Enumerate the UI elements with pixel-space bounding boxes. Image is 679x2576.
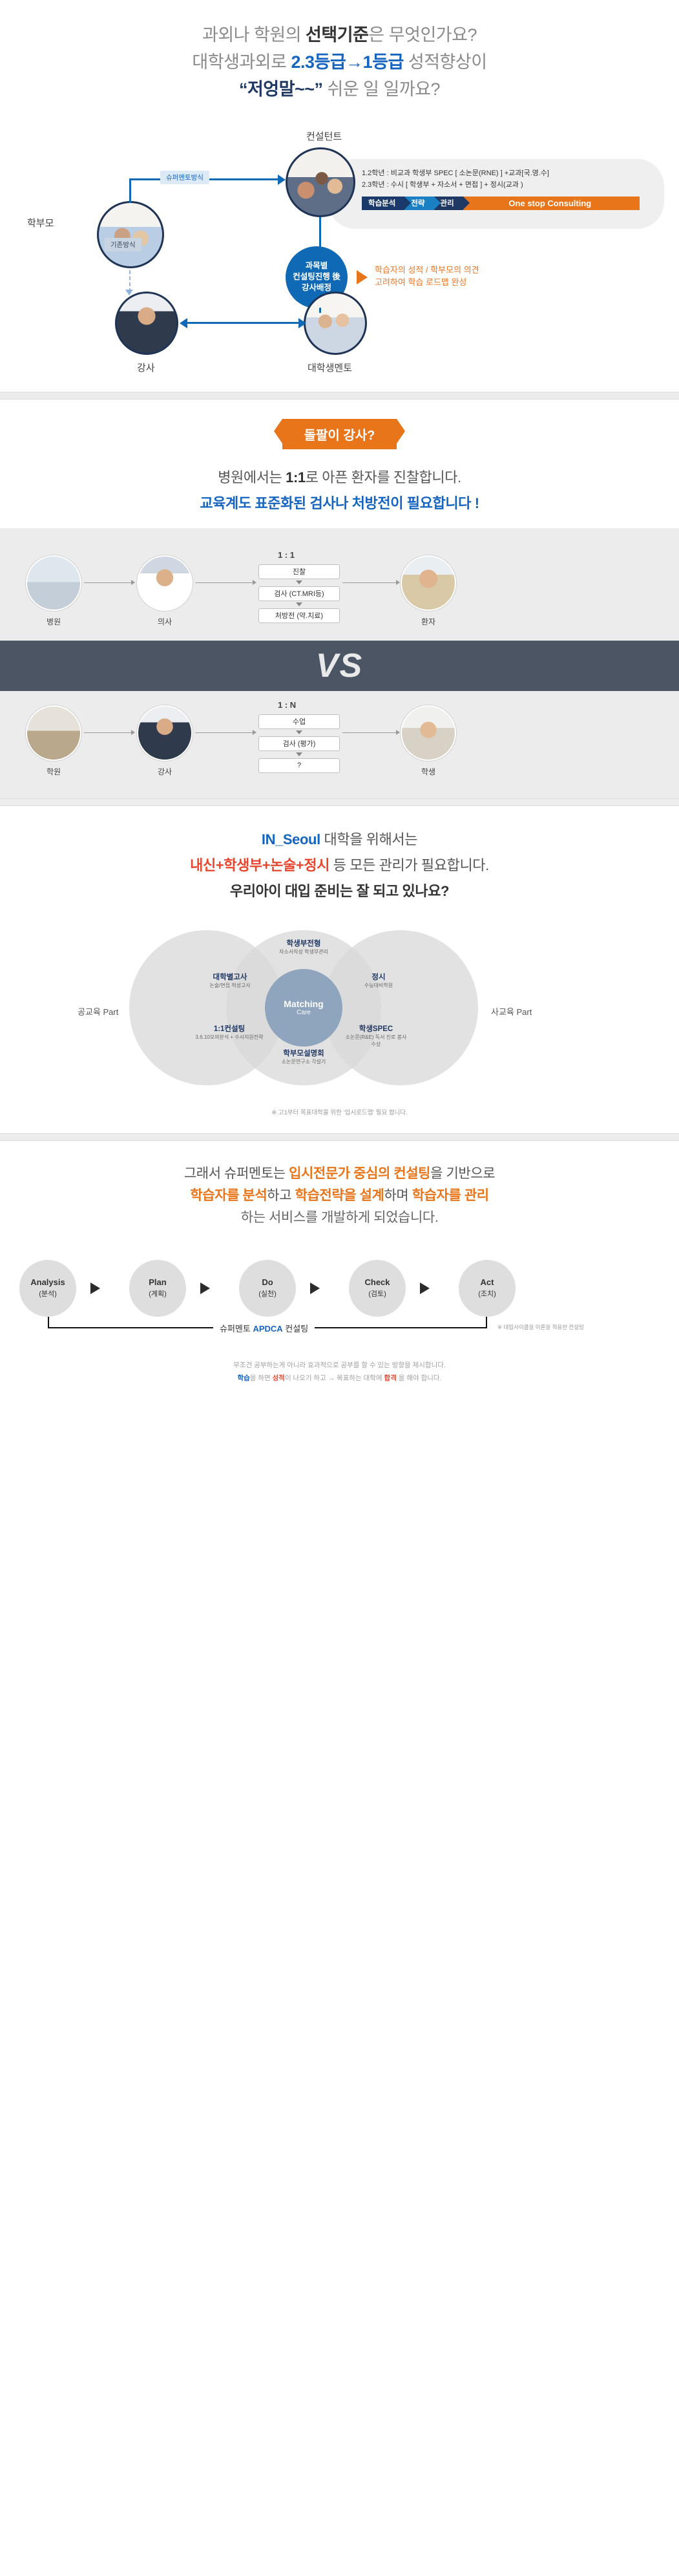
headline-2-a: 대학생과외로 — [192, 52, 291, 72]
comparison-row-hospital: 병원 의사 1 : 1 진찰 검사 (CT.MRI등) 처방전 (약.치료) 환… — [0, 542, 679, 639]
label-academy: 학원 — [21, 766, 86, 777]
conn-steps-patient — [342, 582, 398, 583]
label-public-education: 공교육 Part — [78, 1005, 118, 1017]
petal-3-sub: 소논문연구소 각설기 — [267, 1059, 340, 1066]
apdca-3-ko: (검토) — [368, 1288, 386, 1299]
conn-steps-student — [342, 732, 398, 733]
badge-existing-method: 기존방식 — [105, 238, 141, 251]
connector-arrow-consultant — [278, 175, 286, 185]
ratio-one-to-one: 1 : 1 — [278, 550, 295, 560]
petal-parent-briefing: 학부모설명회 소논문연구소 각설기 — [267, 1049, 340, 1066]
badge-supermento: 슈퍼멘토방식 — [160, 171, 209, 184]
venn-circle-private — [323, 930, 478, 1085]
label-hospital: 병원 — [21, 616, 86, 627]
section2-line-2: 교육계도 표준화된 검사나 처방전이 필요합니다 ! — [0, 492, 679, 513]
apdca-arrow-2-icon — [200, 1283, 210, 1294]
label-consultant: 컨설턴트 — [306, 129, 342, 143]
footer-2a: 학습 — [237, 1374, 249, 1382]
label-parent: 학부모 — [27, 216, 54, 229]
step-box-examination: 진찰 — [258, 564, 340, 579]
doctor-photo — [137, 555, 193, 611]
conn-arrow-5 — [253, 730, 256, 735]
s4-2d: 하며 — [384, 1188, 412, 1203]
vs-bar: VS — [0, 641, 679, 691]
comparison-row-academy: 학원 강사 1 : N 수업 검사 (평가) ? 학생 — [0, 692, 679, 789]
conn-arrow-1 — [131, 580, 135, 585]
apdca-arrow-3-icon — [310, 1283, 320, 1294]
apdca-4-en: Act — [481, 1277, 494, 1287]
apdca-4-ko: (조치) — [478, 1288, 496, 1299]
label-private-education: 사교육 Part — [491, 1005, 532, 1017]
footer-2b: 을 하면 — [250, 1374, 273, 1382]
node-parent[interactable] — [97, 201, 164, 268]
section4-line-1: 그래서 슈퍼멘토는 입시전문가 중심의 컨설팅을 기반으로 — [0, 1163, 679, 1185]
hub-note-line-2: 고려하여 학습 로드맵 완성 — [375, 276, 479, 289]
infographic-page: 과외나 학원의 선택기준은 무엇인가요? 대학생과외로 2.3등급→1등급 성적… — [0, 0, 679, 1407]
mentor-photo — [304, 292, 367, 355]
headline-3-quote: “저엉말~~” — [239, 80, 323, 99]
footer-line-2: 학습을 하면 성적이 나오기 하고 → 목표하는 대학에 합격 을 해야 합니다… — [0, 1372, 679, 1385]
conn-instructor-steps — [195, 732, 255, 733]
in-seoul-highlight: IN_Seoul — [262, 831, 320, 847]
grade-from: 2.3등급 — [291, 52, 346, 72]
section3-line-3: 우리아이 대입 준비는 잘 되고 있나요? — [0, 880, 679, 900]
petal-student-record: 학생부전형 자소서작성 학생부관리 — [270, 939, 337, 956]
connector-arrow-teacher — [125, 290, 133, 295]
step-box-test: 검사 (CT.MRI등) — [258, 586, 340, 601]
step-tick-4 — [296, 752, 302, 756]
divider-1 — [0, 392, 679, 399]
academy-photo — [26, 705, 81, 761]
headline-1-highlight: 선택기준 — [306, 25, 368, 45]
petal-3-title: 학부모설명회 — [267, 1049, 340, 1059]
venn-core: Matching Care — [265, 969, 342, 1047]
connector-consultant-hub — [319, 217, 321, 248]
petal-student-spec: 학생SPEC 소논문(R&E) 독서 진로 봉사 수상 — [342, 1025, 410, 1048]
connector-parent-teacher-dash — [129, 270, 131, 292]
headline-1-c: 은 무엇인가요? — [368, 25, 477, 45]
apdca-3-en: Check — [364, 1277, 390, 1287]
section-in-seoul: IN_Seoul 대학을 위해서는 내신+학생부+논술+정시 등 모든 관리가 … — [0, 806, 679, 1116]
section-quack-teacher: 돌팔이 강사? 병원에서는 1:1로 아픈 환자를 진찰합니다. 교육계도 표준… — [0, 399, 679, 513]
headline-line-2: 대학생과외로 2.3등급→1등급 성적향상이 — [0, 49, 679, 76]
apdca-step-check[interactable]: Check (검토) — [349, 1260, 406, 1317]
label-instructor: 강사 — [132, 766, 197, 777]
petal-2-title: 학생SPEC — [342, 1025, 410, 1035]
s2-ratio-inline: 1:1 — [286, 469, 306, 485]
section-header: 과외나 학원의 선택기준은 무엇인가요? 대학생과외로 2.3등급→1등급 성적… — [0, 0, 679, 115]
vs-text: VS — [316, 646, 363, 685]
petal-4-sub: 3.6.10모의분석 + 수시지원전략 — [194, 1034, 265, 1041]
connector-arrow-teacher-left — [180, 318, 187, 328]
footer-2d: 이 나오기 하고 → 목표하는 대학에 — [285, 1374, 384, 1382]
hospital-photo — [26, 555, 81, 611]
footer-2e: 합격 — [384, 1374, 397, 1382]
ribbon-banner: 돌팔이 강사? — [282, 419, 397, 449]
student-photo — [401, 705, 456, 761]
hub-line-2: 컨설팅진행 後 — [293, 271, 340, 282]
petal-1-title: 정시 — [349, 973, 408, 983]
s4-1c: 을 기반으로 — [430, 1166, 495, 1181]
info-line-1: 1.2학년 : 비교과 학생부 SPEC [ 소논문(RNE) ] +교과[국.… — [362, 167, 549, 179]
consultant-network-diagram: 컨설턴트 1.2학년 : 비교과 학생부 SPEC [ 소논문(RNE) ] +… — [0, 120, 679, 392]
step-box-prescription: 처방전 (약.치료) — [258, 608, 340, 623]
info-line-2: 2.3학년 : 수시 [ 학생부 + 자소서 + 면접 ] + 정시(교과 ) — [362, 179, 549, 191]
apdca-1-ko: (계획) — [149, 1288, 167, 1299]
headline-3-b: 쉬운 일 일까요? — [323, 80, 441, 99]
label-mentor: 대학생멘토 — [308, 361, 352, 374]
section4-line-3: 하는 서비스를 개발하게 되었습니다. — [0, 1207, 679, 1229]
section2-line-1: 병원에서는 1:1로 아픈 환자를 진찰합니다. — [0, 466, 679, 487]
petal-one-on-one-consulting: 1:1컨설팅 3.6.10모의분석 + 수시지원전략 — [194, 1025, 265, 1041]
instructor-photo — [137, 705, 193, 761]
brace-c: 컨설팅 — [283, 1324, 309, 1334]
apdca-2-en: Do — [262, 1277, 273, 1287]
core-sub: Care — [297, 1009, 311, 1016]
petal-5-title: 대학별고사 — [198, 973, 262, 983]
brace-apdca: APDCA — [253, 1324, 282, 1334]
conn-academy-instructor — [84, 732, 133, 733]
conn-hospital-doctor — [84, 582, 133, 583]
connector-arrow-mentor-right — [298, 318, 306, 328]
s3-1b: 대학을 위해서는 — [320, 831, 417, 847]
node-teacher[interactable] — [115, 292, 178, 355]
section-apdca: 그래서 슈퍼멘토는 입시전문가 중심의 컨설팅을 기반으로 학습자를 분석하고 … — [0, 1141, 679, 1344]
tab-analysis[interactable]: 학습분석 — [362, 197, 404, 210]
parent-photo — [97, 201, 164, 268]
apdca-2-ko: (실천) — [258, 1288, 277, 1299]
apdca-brace-label: 슈퍼멘토 APDCA 컨설팅 — [213, 1322, 315, 1334]
petal-1-sub: 수능대비학원 — [349, 983, 408, 990]
apdca-1-en: Plan — [149, 1277, 166, 1287]
headline-2-d: 성적향상이 — [404, 52, 487, 72]
apdca-0-en: Analysis — [30, 1277, 65, 1287]
headline-line-1: 과외나 학원의 선택기준은 무엇인가요? — [0, 22, 679, 49]
footer-2f: 을 해야 합니다. — [397, 1374, 442, 1382]
footer-line-1: 무조건 공부하는게 아니라 효과적으로 공부를 할 수 있는 방향을 제시합니다… — [0, 1359, 679, 1372]
apdca-step-analysis[interactable]: Analysis (분석) — [19, 1260, 76, 1317]
s3-2a: 내신+학생부+논술+정시 — [190, 857, 329, 873]
s4-1a: 그래서 슈퍼멘토는 — [184, 1166, 289, 1181]
connector-parent-up — [129, 178, 131, 203]
headline-line-3: “저엉말~~” 쉬운 일 일까요? — [0, 76, 679, 103]
hub-note-line-1: 학습자의 성적 / 학부모의 의견 — [375, 264, 479, 277]
petal-2-sub: 소논문(R&E) 독서 진로 봉사 수상 — [342, 1034, 410, 1048]
conn-arrow-6 — [396, 730, 400, 735]
hub-arrow-icon — [357, 270, 368, 284]
venn-note: ※ 고1부터 목표대학을 위한 ‘입시로드맵’ 필요 합니다. — [0, 1107, 679, 1116]
s4-2e: 학습자를 관리 — [412, 1188, 489, 1203]
node-consultant[interactable] — [286, 147, 355, 217]
label-student: 학생 — [396, 766, 461, 777]
conn-arrow-4 — [131, 730, 135, 735]
apdca-0-ko: (분석) — [39, 1288, 57, 1299]
consulting-tabbar: 학습분석 전략 관리 One stop Consulting — [362, 197, 640, 210]
grade-to: 1등급 — [363, 52, 404, 72]
comparison-block: 병원 의사 1 : 1 진찰 검사 (CT.MRI등) 처방전 (약.치료) 환… — [0, 528, 679, 798]
s4-2b: 하고 — [267, 1188, 295, 1203]
petal-0-title: 학생부전형 — [270, 939, 337, 950]
section3-line-2: 내신+학생부+논술+정시 등 모든 관리가 필요합니다. — [0, 854, 679, 875]
divider-2 — [0, 798, 679, 806]
petal-university-exam: 대학별고사 논술/면접 적성고사 — [198, 973, 262, 990]
label-teacher: 강사 — [137, 361, 155, 374]
step-box-evaluation: 검사 (평가) — [258, 736, 340, 751]
apdca-step-plan[interactable]: Plan (계획) — [129, 1260, 186, 1317]
apdca-step-act[interactable]: Act (조치) — [459, 1260, 516, 1317]
teacher-photo — [115, 292, 178, 355]
consultant-photo — [286, 147, 355, 217]
section4-line-2: 학습자를 분석하고 학습전략을 설계하며 학습자를 관리 — [0, 1185, 679, 1207]
conn-arrow-3 — [396, 580, 400, 585]
s3-2b: 등 모든 관리가 필요합니다. — [329, 857, 489, 873]
step-box-unknown: ? — [258, 758, 340, 773]
step-tick-2 — [296, 602, 302, 606]
label-doctor: 의사 — [132, 616, 197, 627]
brace-a: 슈퍼멘토 — [220, 1324, 253, 1334]
connector-mentor-teacher — [187, 322, 298, 324]
connector-hub-mentor — [319, 308, 321, 313]
petal-0-sub: 자소서작성 학생부관리 — [270, 949, 337, 956]
step-tick-1 — [296, 580, 302, 584]
apdca-note: ※ 대입사이클을 이론을 적용한 컨설팅 — [497, 1323, 584, 1331]
core-title: Matching — [284, 999, 323, 1009]
petal-5-sub: 논술/면접 적성고사 — [198, 983, 262, 990]
arrow-icon: → — [346, 52, 363, 72]
conn-arrow-2 — [253, 580, 256, 585]
apdca-arrow-1-icon — [90, 1283, 100, 1294]
consultant-info-text: 1.2학년 : 비교과 학생부 SPEC [ 소논문(RNE) ] +교과[국.… — [362, 167, 549, 191]
footer-2c: 성적 — [273, 1374, 285, 1382]
step-tick-3 — [296, 730, 302, 734]
section3-line-1: IN_Seoul 대학을 위해서는 — [0, 828, 679, 849]
petal-4-title: 1:1컨설팅 — [194, 1025, 265, 1035]
label-patient: 환자 — [396, 616, 461, 627]
conn-doctor-steps — [195, 582, 255, 583]
s4-2c: 학습전략을 설계 — [295, 1188, 384, 1203]
page-footer: 무조건 공부하는게 아니라 효과적으로 공부를 할 수 있는 방향을 제시합니다… — [0, 1344, 679, 1407]
step-box-class: 수업 — [258, 714, 340, 729]
node-mentor[interactable] — [304, 292, 367, 355]
s4-1b: 입시전문가 중심의 컨설팅 — [289, 1166, 430, 1181]
hub-note: 학습자의 성적 / 학부모의 의견 고려하여 학습 로드맵 완성 — [375, 264, 479, 289]
s2-1a: 병원에서는 — [218, 469, 286, 485]
tab-one-stop-consulting[interactable]: One stop Consulting — [463, 197, 640, 210]
s2-1c: 로 아픈 환자를 진찰합니다. — [306, 469, 461, 485]
patient-photo — [401, 555, 456, 611]
headline-1-a: 과외나 학원의 — [202, 25, 306, 45]
apdca-flow: Analysis (분석) Plan (계획) Do (실천) Check (검… — [0, 1247, 679, 1344]
hub-line-1: 과목별 — [306, 261, 328, 271]
petal-regular-admission: 정시 수능대비학원 — [349, 973, 408, 990]
apdca-arrow-4-icon — [420, 1283, 430, 1294]
ratio-one-to-n: 1 : N — [278, 700, 296, 710]
divider-3 — [0, 1133, 679, 1141]
venn-diagram: 공교육 Part 사교육 Part Matching Care 학생부전형 자소… — [0, 911, 679, 1105]
apdca-step-do[interactable]: Do (실천) — [239, 1260, 296, 1317]
s4-2a: 학습자를 분석 — [190, 1188, 267, 1203]
